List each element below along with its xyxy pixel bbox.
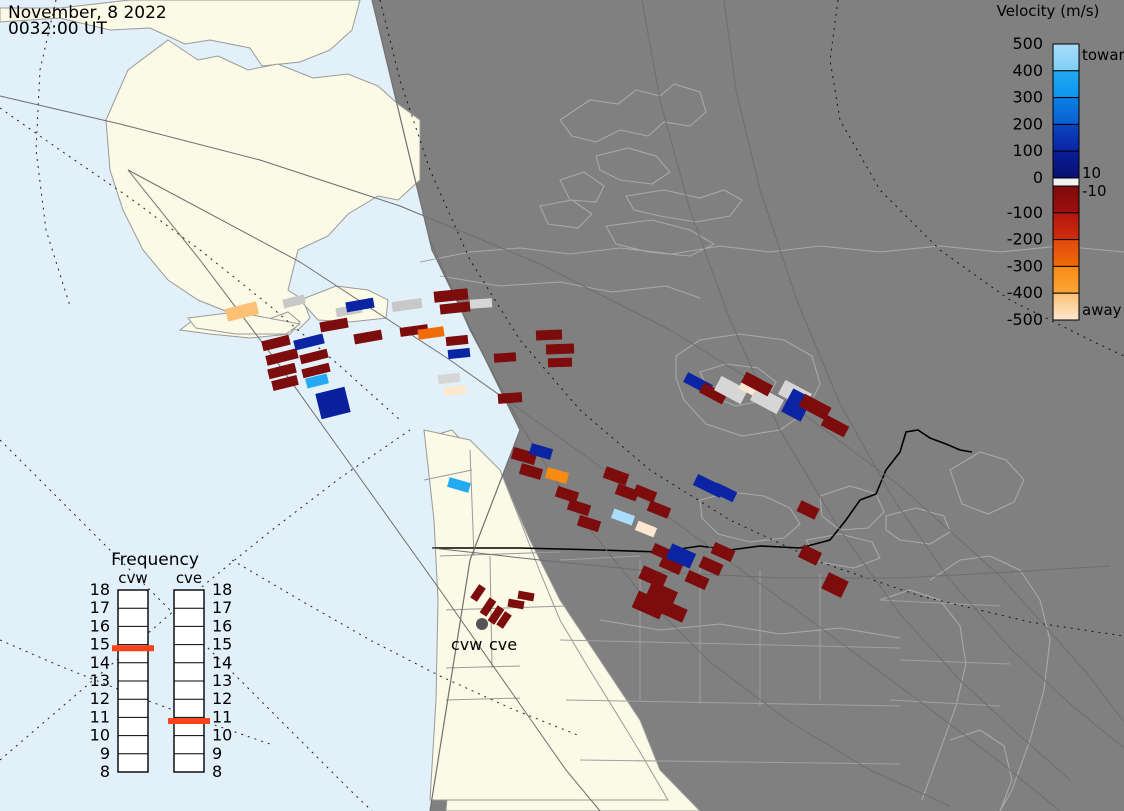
frequency-tick: 16 — [90, 616, 110, 635]
frequency-marker-cvw — [112, 645, 154, 651]
frequency-tick: 9 — [212, 744, 222, 763]
frequency-tick: 8 — [100, 762, 110, 781]
frequency-tick: 11 — [90, 707, 110, 726]
frequency-tick: 11 — [212, 707, 232, 726]
frequency-tick: 10 — [212, 726, 232, 745]
frequency-tick: 16 — [212, 616, 232, 635]
frequency-legend-cve-title: cve — [176, 569, 202, 587]
frequency-tick: 15 — [90, 635, 110, 654]
frequency-legend-title: Frequency — [111, 550, 199, 570]
frequency-tick: 12 — [90, 689, 110, 708]
frequency-tick: 13 — [212, 671, 232, 690]
frequency-marker-cve — [168, 718, 210, 724]
frequency-tick: 12 — [212, 689, 232, 708]
frequency-tick: 15 — [212, 635, 232, 654]
frequency-tick: 18 — [90, 580, 110, 599]
fan-plot-canvas: November, 8 2022 0032:00 UT cvw cve Velo… — [0, 0, 1124, 811]
frequency-tick: 13 — [90, 671, 110, 690]
frequency-tick: 8 — [212, 762, 222, 781]
frequency-bars: 1817161514131211109818171615141312111098 — [90, 580, 233, 781]
frequency-tick: 14 — [212, 653, 232, 672]
frequency-tick: 14 — [90, 653, 110, 672]
frequency-tick: 17 — [212, 598, 232, 617]
frequency-tick: 10 — [90, 726, 110, 745]
frequency-tick: 17 — [90, 598, 110, 617]
frequency-tick: 18 — [212, 580, 232, 599]
frequency-tick: 9 — [100, 744, 110, 763]
frequency-legend: Frequency cvw cve 1817161514131211109818… — [0, 0, 1124, 811]
frequency-legend-cvw-title: cvw — [118, 569, 147, 587]
